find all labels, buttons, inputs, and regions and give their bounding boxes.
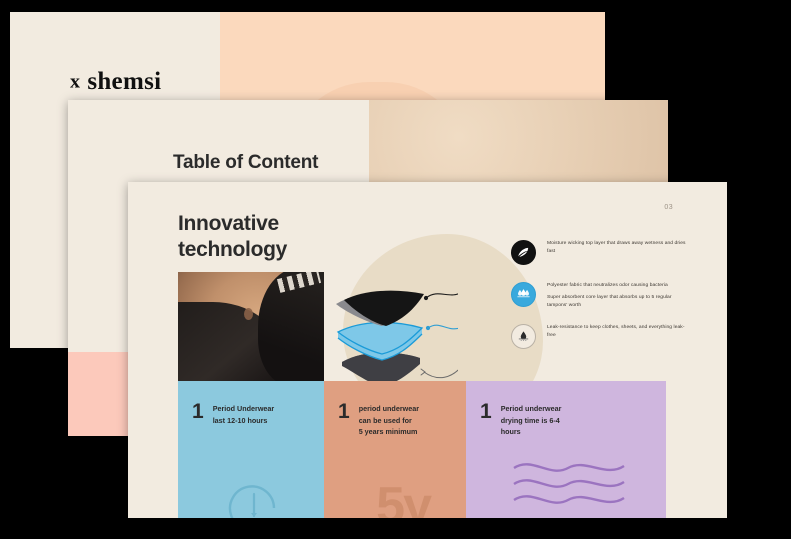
stat-content: 1 Period underwear drying time is 6-4 ho…: [480, 403, 666, 438]
feature-list: Moisture wicking top layer that draws aw…: [511, 240, 686, 366]
stat-number: 1: [480, 403, 492, 421]
arrow-to-leak: [421, 366, 458, 378]
stat-line-3: 5 years minimum: [359, 426, 419, 438]
page-number: 03: [664, 204, 673, 211]
stat-number: 1: [338, 403, 350, 421]
stat-panel-drying-time[interactable]: 1 Period underwear drying time is 6-4 ho…: [466, 381, 666, 518]
feature-item-odor-absorbency: Polyester fabric that neutralizes odor c…: [511, 282, 686, 316]
stat-line-1: Period underwear: [501, 403, 562, 415]
slide-innovative-technology[interactable]: 03 Innovative technology: [128, 182, 727, 518]
arrow-to-drops: [426, 325, 458, 330]
stat-line-2: last 12-10 hours: [213, 415, 275, 427]
stat-panel-group: 1 Period Underwear last 12-10 hours: [178, 381, 727, 518]
layer-top-black: [336, 291, 424, 326]
stat-panel-lifespan[interactable]: 1 period underwear can be used for 5 yea…: [324, 381, 466, 518]
layer-middle-blue: [338, 322, 422, 360]
feather-icon: [511, 240, 536, 265]
logo-wordmark: shemsi: [87, 68, 161, 96]
feature-text: Moisture wicking top layer that draws aw…: [547, 240, 686, 256]
stat-line-3: hours: [501, 426, 562, 438]
stat-line-1: period underwear: [359, 403, 419, 415]
fabric-layers-diagram: [328, 270, 458, 390]
panel-right-filler: [677, 381, 727, 518]
droplet-shield-icon: [511, 324, 536, 349]
wavy-lines-icon: [510, 458, 628, 510]
toc-title: Table of Content: [173, 152, 318, 174]
stat-line-2: can be used for: [359, 415, 419, 427]
page-title-line1: Innovative: [178, 211, 287, 237]
page-title-line2: technology: [178, 237, 287, 263]
arrow-to-feather: [424, 292, 458, 300]
feature-item-leak-resistance: Leak-resistance to keep clothes, sheets,…: [511, 324, 686, 358]
product-photo-navel: [244, 308, 253, 320]
stat-text: period underwear can be used for 5 years…: [359, 403, 419, 438]
stat-line-1: Period Underwear: [213, 403, 275, 415]
stat-line-2: drying time is 6-4: [501, 415, 562, 427]
brand-logo[interactable]: x shemsi: [70, 68, 161, 96]
feature-text: Leak-resistance to keep clothes, sheets,…: [547, 324, 686, 340]
feature-text-1: Polyester fabric that neutralizes odor c…: [547, 282, 686, 290]
stat-content: 1 Period Underwear last 12-10 hours: [192, 403, 324, 426]
five-years-decoration: 5y: [376, 480, 430, 518]
page-title: Innovative technology: [178, 211, 287, 262]
slide-deck-preview: x shemsi Table of Content 03 Innovative …: [0, 0, 791, 539]
feature-item-moisture-wicking: Moisture wicking top layer that draws aw…: [511, 240, 686, 274]
water-drops-icon: [511, 282, 536, 307]
clock-arrow-icon: [222, 478, 286, 518]
stat-text: Period Underwear last 12-10 hours: [213, 403, 275, 426]
stat-panel-duration[interactable]: 1 Period Underwear last 12-10 hours: [178, 381, 324, 518]
stat-text: Period underwear drying time is 6-4 hour…: [501, 403, 562, 438]
feature-text-2: Super absorbent core layer that absorbs …: [547, 294, 686, 310]
logo-mark-icon: x: [70, 71, 80, 93]
stat-number: 1: [192, 403, 204, 421]
stat-content: 1 period underwear can be used for 5 yea…: [338, 403, 466, 438]
product-photo: [178, 272, 324, 382]
